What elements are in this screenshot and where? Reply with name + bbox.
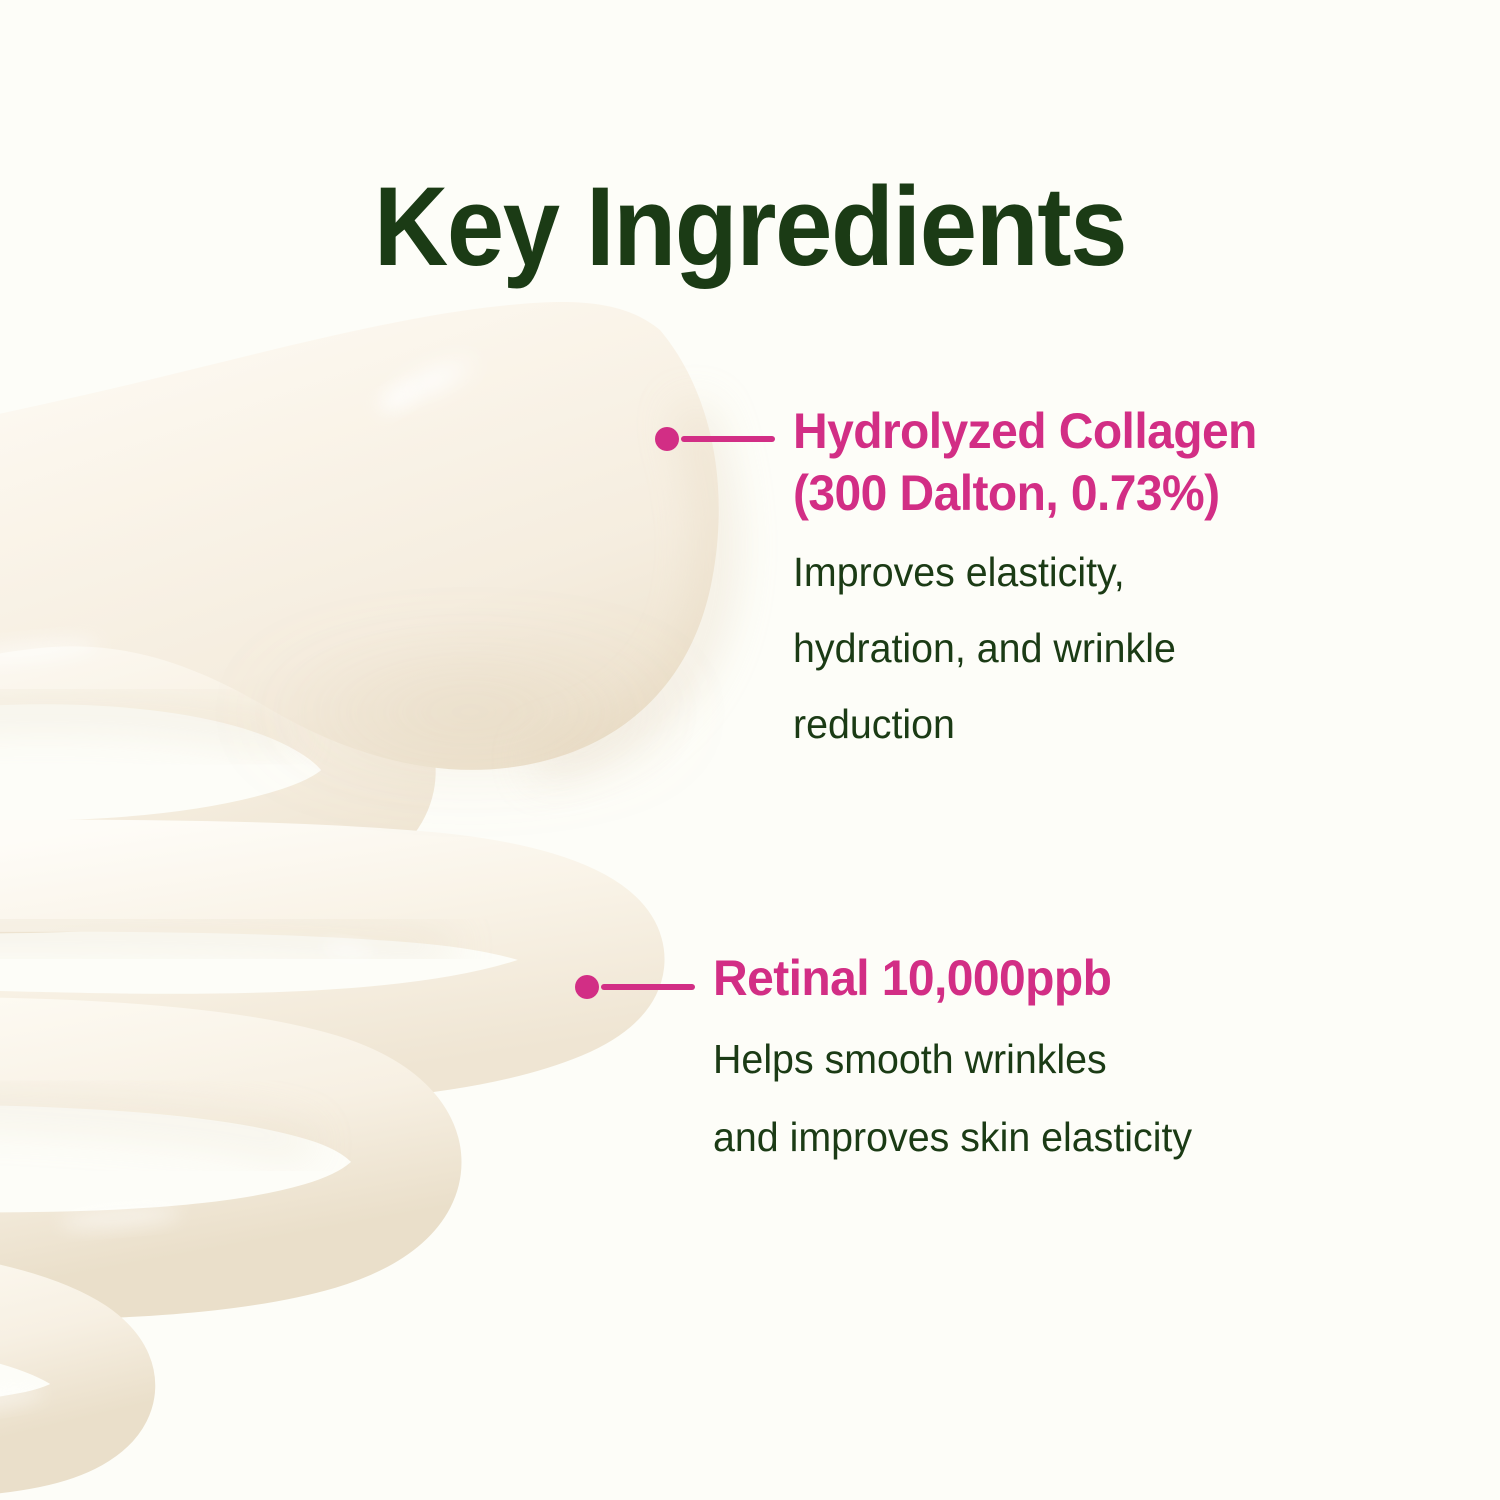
callout-dot-icon	[575, 975, 599, 999]
droplet-rim-shadow	[536, 410, 716, 762]
infographic-canvas: Key Ingredients Hydrolyzed Collagen (300…	[0, 0, 1500, 1500]
ingredient-desc-collagen-line1: Improves elasticity,	[793, 544, 1257, 600]
callout-marker-collagen	[655, 427, 775, 451]
callout-leader-line	[681, 436, 775, 442]
page-title: Key Ingredients	[60, 171, 1440, 283]
callout-marker-retinal	[575, 975, 695, 999]
ingredient-name-collagen-line1: Hydrolyzed Collagen	[793, 400, 1257, 462]
callout-body-retinal: Retinal 10,000ppb Helps smooth wrinkles …	[713, 947, 1212, 1165]
callout-body-collagen: Hydrolyzed Collagen (300 Dalton, 0.73%) …	[793, 400, 1276, 752]
droplet-bottom-shade	[240, 652, 700, 772]
ingredient-desc-retinal-line1: Helps smooth wrinkles	[713, 1031, 1192, 1087]
ingredient-name-collagen-line2: (300 Dalton, 0.73%)	[793, 462, 1257, 524]
droplet-specular-small	[374, 379, 421, 417]
cream-droplet	[0, 302, 719, 770]
ingredient-desc-collagen-line2: hydration, and wrinkle	[793, 620, 1257, 676]
ribbon-glints	[0, 635, 375, 1417]
callout-dot-icon	[655, 427, 679, 451]
callout-leader-line	[601, 984, 695, 990]
droplet-specular-highlight	[373, 341, 491, 421]
ingredient-desc-collagen-line3: reduction	[793, 696, 1257, 752]
ingredient-desc-retinal-line2: and improves skin elasticity	[713, 1109, 1192, 1165]
cream-ribbon	[0, 648, 609, 1452]
ingredient-name-retinal: Retinal 10,000ppb	[713, 947, 1192, 1009]
cream-ribbon-shading	[0, 710, 450, 1146]
